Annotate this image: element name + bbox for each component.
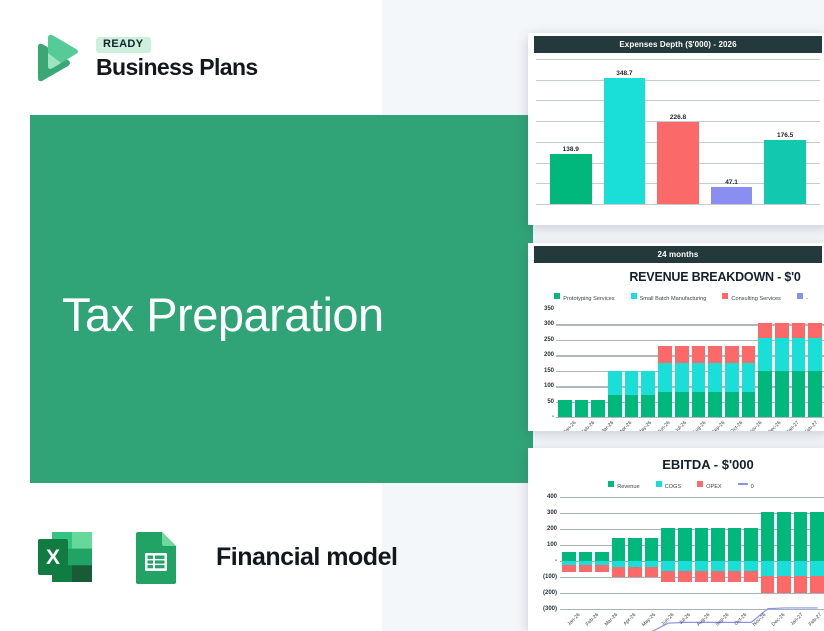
legend-item[interactable]: Consulting Services <box>722 287 780 305</box>
chart3-stacked-bar <box>711 497 725 609</box>
chart3-stacked-bar <box>728 497 742 609</box>
y-tick: 100 <box>544 383 554 389</box>
chart2-stacked-bar <box>625 309 639 417</box>
y-tick: 300 <box>547 510 557 516</box>
x-tick: Feb-26 <box>581 420 596 431</box>
x-tick: Nov-26 <box>752 612 768 628</box>
chart3-plot-area: 400300200100-(100)(200)(300) <box>528 497 824 609</box>
chart1-title-bar: Expenses Depth ($'000) - 2026 <box>528 33 824 53</box>
chart3-stacked-bar <box>562 497 576 609</box>
svg-text:X: X <box>46 546 60 569</box>
chart2-bars <box>556 309 824 417</box>
legend-label: COGS <box>665 484 681 490</box>
brand-lockup: READY Business Plans <box>28 30 258 86</box>
format-row: X Financial model <box>30 521 397 593</box>
y-tick: (300) <box>543 606 557 612</box>
x-tick: Jul-26 <box>674 420 688 431</box>
chart-card-expenses-depth[interactable]: Expenses Depth ($'000) - 2026 138.9348.7… <box>528 33 824 225</box>
chart3-stacked-bar <box>794 497 808 609</box>
brand-name: Business Plans <box>96 55 258 79</box>
chart3-title: EBITDA - $'000 <box>528 457 824 472</box>
legend-label: Small Batch Manufacturing <box>640 296 707 302</box>
x-tick: Jun-26 <box>660 612 675 627</box>
x-tick: Oct-26 <box>729 420 744 431</box>
legend-label: Consulting Services <box>731 296 780 302</box>
chart2-stacked-bar <box>792 309 806 417</box>
y-tick: - <box>552 414 554 420</box>
ready-badge: READY <box>96 37 151 53</box>
x-tick: Mar-26 <box>604 612 619 627</box>
x-tick: Oct-26 <box>733 612 748 627</box>
legend-label: 0 <box>751 484 754 490</box>
legend-item[interactable]: Small Batch Manufacturing <box>631 287 707 305</box>
legend-label: Prototyping Services <box>563 296 614 302</box>
chart2-stacked-bar <box>675 309 689 417</box>
y-tick: 200 <box>547 526 557 532</box>
google-sheets-icon <box>120 521 192 593</box>
chart2-stacked-bar <box>575 309 589 417</box>
chart2-header-bar: 24 months <box>528 243 824 263</box>
x-tick: Apr-26 <box>622 612 637 627</box>
chart2-stacked-bar <box>758 309 772 417</box>
chart3-stacked-bar <box>579 497 593 609</box>
legend-item[interactable]: OPEX <box>697 475 722 493</box>
chart3-y-axis: 400300200100-(100)(200)(300) <box>530 497 560 609</box>
y-tick: 300 <box>544 321 554 327</box>
y-tick: 250 <box>544 337 554 343</box>
chart1-bar: 138.9 <box>550 59 592 204</box>
chart3-plot <box>560 497 824 609</box>
page-title-text: Tax Preparation <box>62 290 542 339</box>
chart1-plot: 138.9348.7226.847.1176.5 <box>536 59 820 204</box>
legend-item[interactable]: Prototyping Services <box>554 287 614 305</box>
chart1-bar: 348.7 <box>604 59 646 204</box>
chart2-plot-area: 35030025020015010050- <box>528 309 824 417</box>
x-tick: Jan-26 <box>566 612 581 627</box>
legend-label: Revenue <box>617 484 639 490</box>
x-tick: Aug-26 <box>691 420 707 431</box>
chart2-stacked-bar <box>742 309 756 417</box>
y-tick: 100 <box>547 542 557 548</box>
chart3-stacked-bar <box>777 497 791 609</box>
chart3-stacked-bar <box>645 497 659 609</box>
x-tick: Jun-26 <box>656 420 671 431</box>
y-tick: 200 <box>544 352 554 358</box>
slide-canvas: READY Business Plans Tax Preparation X <box>0 0 824 631</box>
chart3-legend: RevenueCOGSOPEX0 <box>528 475 824 493</box>
x-tick: Nov-26 <box>748 420 764 431</box>
chart2-stacked-bar <box>808 309 822 417</box>
microsoft-excel-icon: X <box>30 521 102 593</box>
legend-item[interactable]: COGS <box>656 475 681 493</box>
legend-item[interactable]: 0 <box>738 475 754 493</box>
chart1-bar: 226.8 <box>657 59 699 204</box>
legend-item[interactable]: Revenue <box>608 475 639 493</box>
x-tick: Jan-27 <box>786 420 801 431</box>
chart2-stacked-bar <box>775 309 789 417</box>
chart3-stacked-bar <box>678 497 692 609</box>
chart-card-ebitda[interactable]: EBITDA - $'000 RevenueCOGSOPEX0 40030020… <box>528 448 824 631</box>
x-tick: Feb-26 <box>585 612 600 627</box>
legend-item[interactable]: - <box>797 287 808 305</box>
chart1-bar: 176.5 <box>764 59 806 204</box>
x-tick: Feb-27 <box>808 612 823 627</box>
chart1-title: Expenses Depth ($'000) - 2026 <box>534 36 822 53</box>
chart2-stacked-bar <box>608 309 622 417</box>
chart3-stacked-bar <box>661 497 675 609</box>
play-triangle-logo-icon <box>28 30 84 86</box>
chart3-stacked-bar <box>595 497 609 609</box>
y-tick: - <box>555 558 557 564</box>
chart2-stacked-bar <box>658 309 672 417</box>
y-tick: 350 <box>544 306 554 312</box>
y-tick: (200) <box>543 590 557 596</box>
chart3-stacked-bar <box>744 497 758 609</box>
chart2-stacked-bar <box>725 309 739 417</box>
chart1-bar: 47.1 <box>711 59 753 204</box>
x-tick: Feb-27 <box>804 420 819 431</box>
legend-label: OPEX <box>706 484 722 490</box>
chart2-y-axis: 35030025020015010050- <box>530 309 556 417</box>
chart3-stacked-bar <box>810 497 824 609</box>
chart2-plot <box>556 309 824 417</box>
x-tick: May-26 <box>641 612 657 628</box>
x-tick: Dec-26 <box>767 420 783 431</box>
chart2-stacked-bar <box>708 309 722 417</box>
chart2-legend: Prototyping ServicesSmall Batch Manufact… <box>528 287 824 305</box>
y-tick: 150 <box>544 368 554 374</box>
x-tick: Sep-26 <box>710 420 726 431</box>
x-tick: Jan-26 <box>562 420 577 431</box>
x-tick: Sep-26 <box>714 612 730 628</box>
chart2-title: REVENUE BREAKDOWN - $'0 <box>528 270 824 284</box>
chart2-stacked-bar <box>692 309 706 417</box>
y-tick: (100) <box>543 574 557 580</box>
chart3-stacked-bar <box>628 497 642 609</box>
legend-label: - <box>806 296 808 302</box>
chart3-stacked-bar <box>612 497 626 609</box>
chart2-stacked-bar <box>591 309 605 417</box>
x-tick: May-26 <box>637 420 653 431</box>
format-label: Financial model <box>216 543 397 572</box>
y-tick: 50 <box>547 399 554 405</box>
x-tick: Apr-26 <box>618 420 633 431</box>
chart3-stacked-bar <box>695 497 709 609</box>
x-tick: Jan-27 <box>790 612 805 627</box>
chart3-bars <box>560 497 824 609</box>
chart3-x-labels: Jan-26Feb-26Mar-26Apr-26May-26Jun-26Jul-… <box>528 609 824 618</box>
chart3-stacked-bar <box>761 497 775 609</box>
x-tick: Mar-26 <box>600 420 615 431</box>
y-tick: 400 <box>547 494 557 500</box>
chart2-stacked-bar <box>558 309 572 417</box>
x-tick: Jul-26 <box>678 612 692 626</box>
x-tick: Dec-26 <box>771 612 787 628</box>
page-title: Tax Preparation <box>62 290 542 339</box>
chart2-stacked-bar <box>641 309 655 417</box>
x-tick: Aug-26 <box>695 612 711 628</box>
chart2-header: 24 months <box>534 246 822 263</box>
chart-card-revenue-breakdown[interactable]: 24 months REVENUE BREAKDOWN - $'0 Protot… <box>528 243 824 431</box>
chart1-bars: 138.9348.7226.847.1176.5 <box>536 59 820 204</box>
